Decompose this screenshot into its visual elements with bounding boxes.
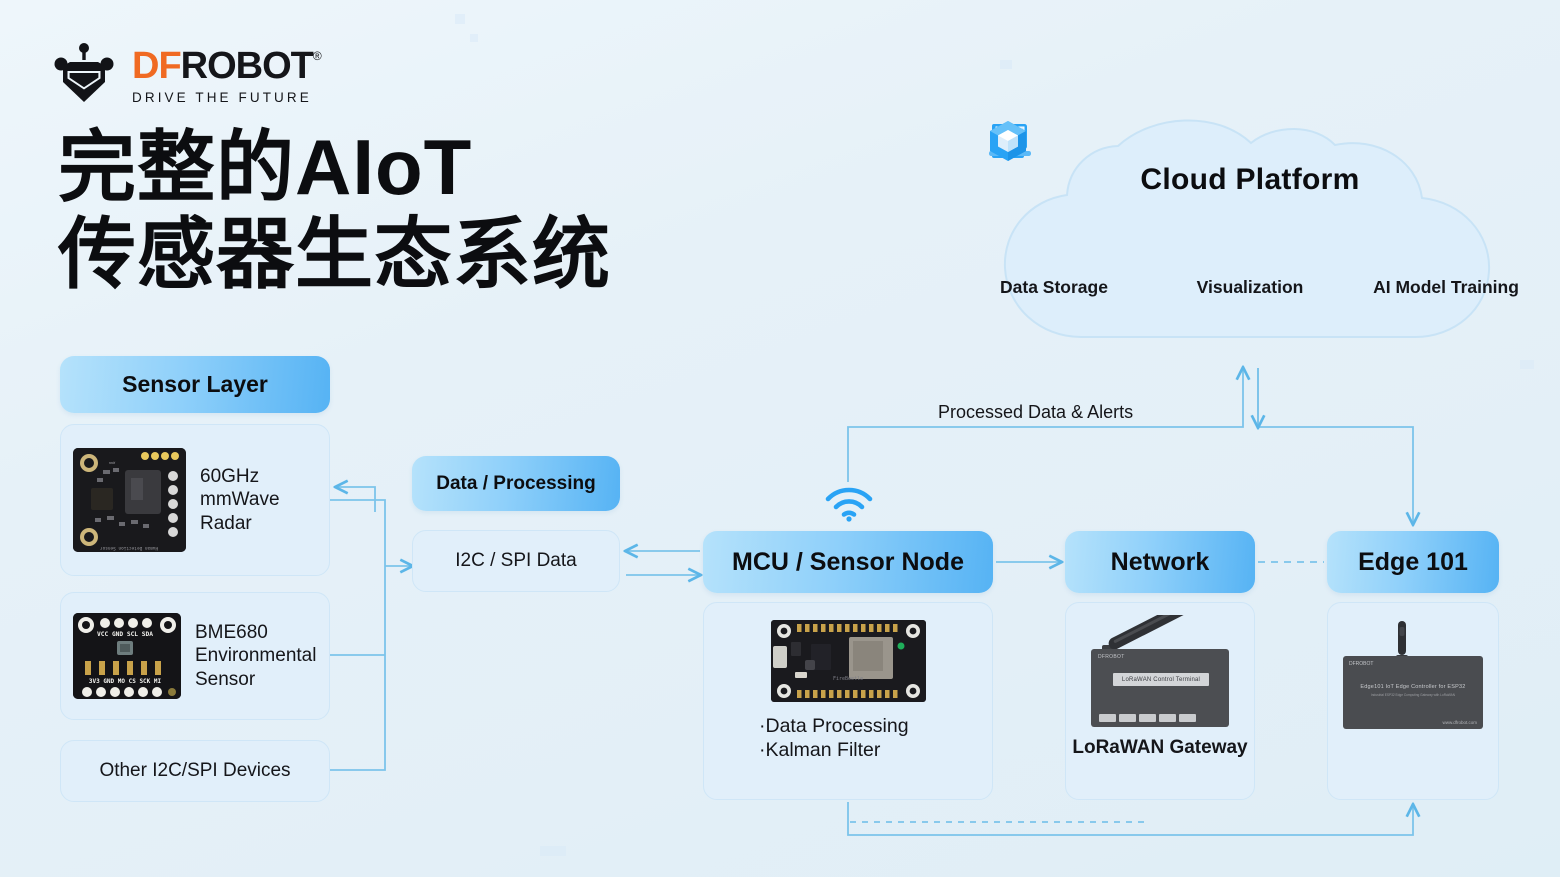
network-title: Network [1111, 548, 1210, 577]
device-model-label: Edge101 IoT Edge Controller for ESP32 [1343, 684, 1483, 690]
svg-text:3V3 GND MO CS SCK MI: 3V3 GND MO CS SCK MI [89, 678, 162, 685]
i2c-spi-data-box[interactable]: I2C / SPI Data [412, 530, 620, 592]
sensor-layer-title: Sensor Layer [122, 371, 268, 398]
sensor-item-label: BME680 Environmental Sensor [195, 621, 316, 691]
bme680-pcb-image: VCC GND SCL SDA 3V3 GND MO CS SCK MI [73, 613, 181, 699]
device-brand-mark: DFROBOT [1349, 661, 1373, 667]
mcu-sensor-node-panel[interactable]: FireBeetle ·Data Processing ·Kalman Filt… [703, 602, 993, 800]
brand-name-df: DF [132, 47, 181, 85]
cloud-service-visualization[interactable]: Visualization [1175, 217, 1325, 298]
headline-line-1: 完整的AIoT [58, 124, 611, 211]
mcu-feature-list: ·Data Processing ·Kalman Filter [759, 714, 909, 763]
device-brand-mark: DFROBOT [1098, 654, 1125, 660]
edge-101-panel[interactable]: DFROBOT Edge101 IoT Edge Controller for … [1327, 602, 1499, 800]
decor-speck [455, 14, 465, 24]
cloud-service-label: Data Storage [1000, 277, 1108, 298]
svg-text:VCC GND SCL SDA: VCC GND SCL SDA [97, 631, 153, 638]
brand-name-robot: ROBOT [181, 47, 313, 85]
registered-mark: ® [313, 50, 322, 62]
sensor-item-label: 60GHz mmWave Radar [200, 465, 280, 535]
mmwave-radar-pcb-image: mmW Human Detection Sensor [73, 448, 186, 552]
device-model-label: LoRaWAN Control Terminal [1113, 673, 1209, 686]
cloud-platform-panel: Cloud Platform [985, 118, 1515, 370]
svg-text:Human Detection Sensor: Human Detection Sensor [100, 545, 159, 551]
cloud-service-ai-model-training[interactable]: AI Model Training [1371, 217, 1521, 298]
network-header: Network [1065, 531, 1255, 593]
sensor-item-mmwave-radar[interactable]: mmW Human Detection Sensor 60GHz mmWave … [60, 424, 330, 576]
device-ports [1099, 714, 1196, 722]
i2c-spi-data-label: I2C / SPI Data [455, 550, 576, 572]
edge-title: Edge 101 [1358, 548, 1468, 577]
cloud-platform-title: Cloud Platform [1140, 163, 1359, 197]
svg-text:mmW: mmW [109, 461, 116, 465]
wire-bus-to-radar-return [336, 487, 375, 512]
sensor-layer-header: Sensor Layer [60, 356, 330, 413]
wire-cloud-to-edge [1258, 368, 1413, 524]
wire-wifi-to-cloud [848, 368, 1243, 482]
dfrobot-robot-head-icon [50, 42, 118, 110]
cloud-service-label: AI Model Training [1373, 277, 1519, 298]
mcu-feature-item: ·Data Processing [759, 714, 909, 738]
esp32-board-image: FireBeetle [771, 620, 926, 702]
network-panel[interactable]: DFROBOT LoRaWAN Control Terminal LoRaWAN… [1065, 602, 1255, 800]
processed-data-label: Processed Data & Alerts [938, 402, 1133, 423]
svg-text:FireBeetle: FireBeetle [833, 676, 863, 682]
decor-speck [540, 846, 566, 856]
data-processing-header: Data / Processing [412, 456, 620, 511]
wire-edge-feedback [848, 802, 1413, 835]
edge-101-header: Edge 101 [1327, 531, 1499, 593]
mcu-sensor-node-header: MCU / Sensor Node [703, 531, 993, 593]
sensor-item-bme680[interactable]: VCC GND SCL SDA 3V3 GND MO CS SCK MI BME [60, 592, 330, 720]
wifi-icon [823, 482, 875, 522]
cloud-service-label: Visualization [1197, 277, 1304, 298]
cloud-services-list: Data Storage Visualization [979, 217, 1521, 298]
edge-101-device-image: DFROBOT Edge101 IoT Edge Controller for … [1343, 656, 1483, 729]
decor-speck [1000, 60, 1012, 69]
wire-radar-to-bus [330, 500, 385, 566]
wire-other-to-bus [330, 566, 385, 770]
headline-line-2: 传感器生态系统 [58, 211, 611, 298]
decor-speck [470, 34, 478, 42]
brand-logo: DF ROBOT ® DRIVE THE FUTURE [50, 42, 322, 110]
decor-speck [1520, 360, 1534, 369]
brand-tagline: DRIVE THE FUTURE [132, 91, 322, 105]
device-model-sublabel: Industrial ESP32 Edge Computing Gateway … [1343, 693, 1483, 697]
data-processing-title: Data / Processing [436, 473, 595, 495]
page-title: 完整的AIoT 传感器生态系统 [58, 124, 611, 299]
network-device-caption: LoRaWAN Gateway [1072, 737, 1247, 759]
device-url-label: www.dfrobot.com [1442, 720, 1477, 725]
mcu-feature-item: ·Kalman Filter [759, 738, 909, 762]
sensor-item-other-devices[interactable]: Other I2C/SPI Devices [60, 740, 330, 802]
sensor-item-label: Other I2C/SPI Devices [99, 759, 290, 782]
mcu-title: MCU / Sensor Node [732, 548, 964, 577]
cloud-service-data-storage[interactable]: Data Storage [979, 217, 1129, 298]
lorawan-gateway-device-image: DFROBOT LoRaWAN Control Terminal [1091, 649, 1229, 727]
